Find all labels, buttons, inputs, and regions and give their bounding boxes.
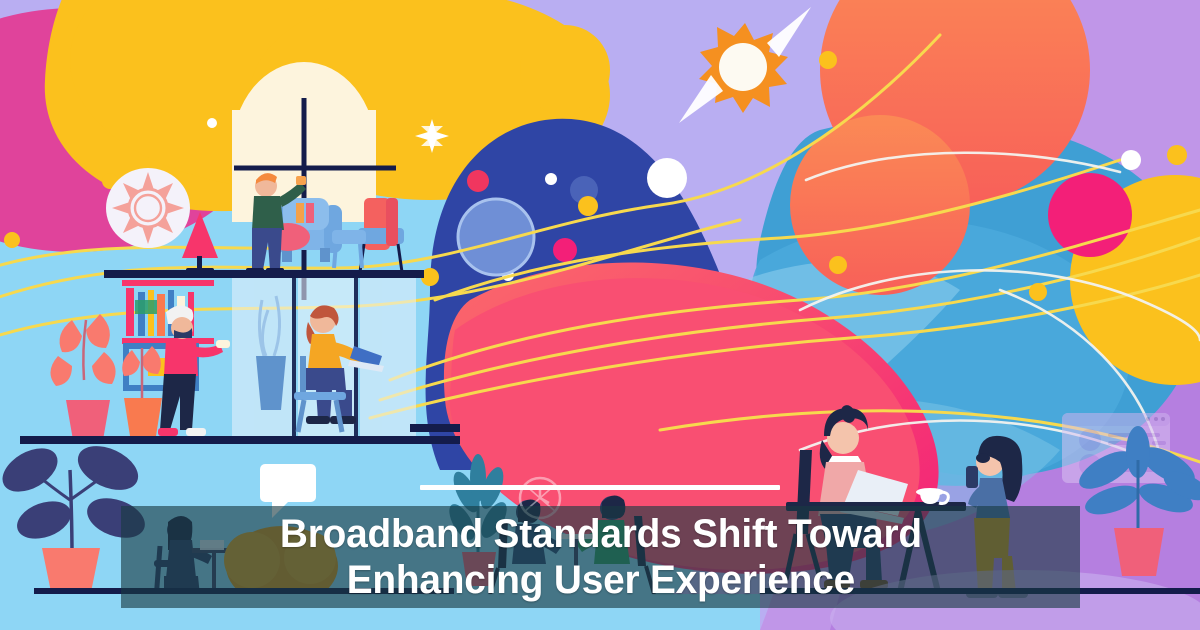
banner-canvas: Broadband Standards Shift Toward Enhanci… (0, 0, 1200, 630)
sun-mandala-shape (106, 168, 190, 248)
title-overlay-band: Broadband Standards Shift Toward Enhanci… (121, 506, 1080, 608)
title-divider-rule (420, 485, 780, 490)
page-title: Broadband Standards Shift Toward Enhanci… (270, 511, 931, 603)
